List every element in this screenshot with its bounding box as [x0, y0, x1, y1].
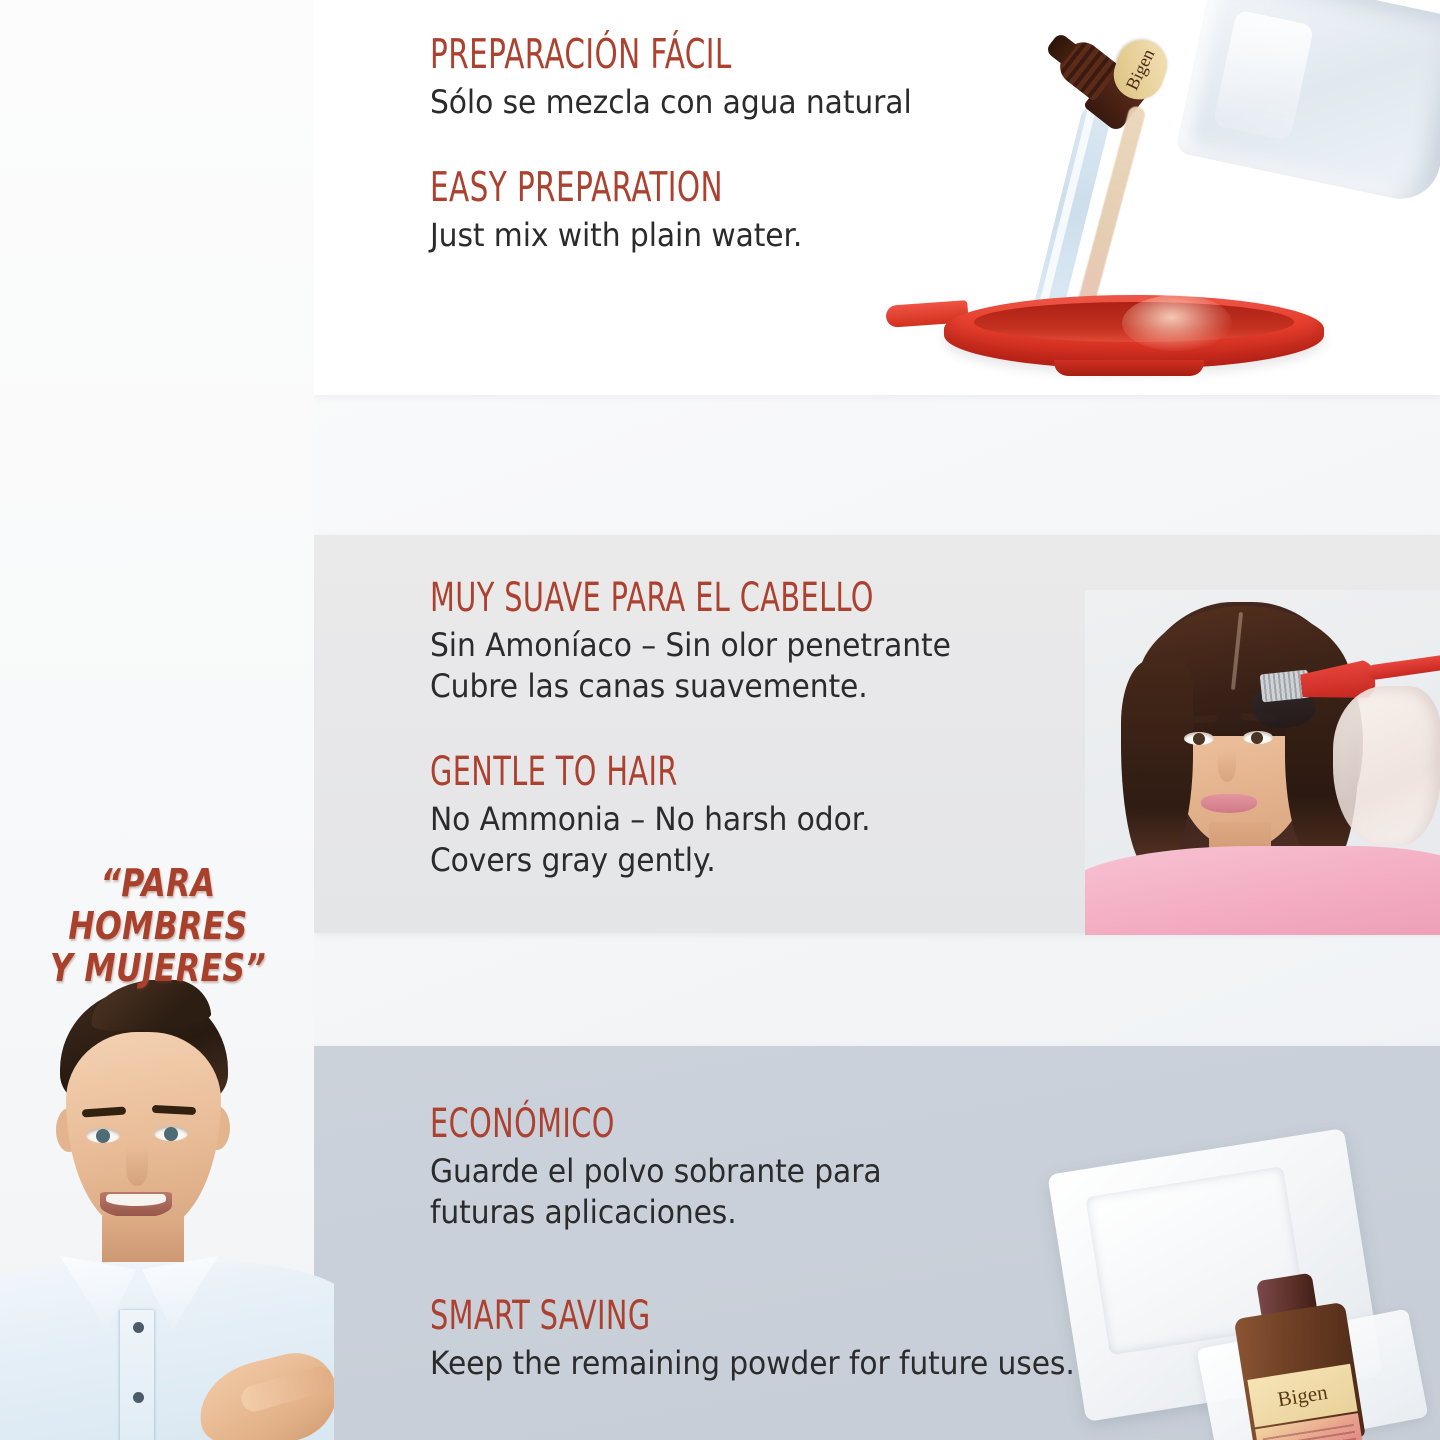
man-shirt-button — [133, 1322, 144, 1333]
bigen-bottle-shape: Bigen — [1015, 0, 1176, 152]
powder-dust-shape — [1122, 295, 1232, 351]
woman-lips-shape — [1201, 794, 1257, 813]
man-pupil-left — [96, 1129, 110, 1143]
panel-easy-preparation-text: PREPARACIÓN FÁCIL Sólo se mezcla con agu… — [430, 34, 948, 257]
bottle-brand-text: Bigen — [1122, 46, 1160, 94]
feature-gentle-to-hair: GENTLE TO HAIR No Ammonia – No harsh odo… — [430, 752, 990, 882]
quote-para-hombres-y-mujeres: “PARA HOMBRES Y MUJERES” — [20, 862, 296, 990]
panel-gentle-to-hair-text: MUY SUAVE PARA EL CABELLO Sin Amoníaco –… — [430, 578, 990, 882]
smiling-man-pointing-photo — [0, 980, 334, 1440]
gloved-hand-shape — [1333, 686, 1440, 846]
feature-heading-es: ECONÓMICO — [430, 1104, 985, 1145]
feature-heading-es: PREPARACIÓN FÁCIL — [430, 34, 844, 76]
woman-pupil-right — [1251, 732, 1263, 744]
bowl-foot-shape — [1054, 360, 1204, 376]
mixing-bowl-illustration: Bigen — [934, 0, 1440, 395]
feature-easy-preparation: EASY PREPARATION Just mix with plain wat… — [430, 167, 948, 256]
woman-pink-cape-shape — [1085, 846, 1440, 935]
pack-bottle-body-shape: Bigen — [1234, 1302, 1366, 1440]
panel-easy-preparation: Bigen PREPARACIÓN FÁCIL Sólo se mezcla c… — [314, 0, 1440, 395]
infographic-canvas: Bigen PREPARACIÓN FÁCIL Sólo se mezcla c… — [0, 0, 1440, 1440]
woman-nose-shape — [1218, 750, 1236, 782]
man-pupil-right — [164, 1127, 178, 1141]
feature-heading-es: MUY SUAVE PARA EL CABELLO — [430, 578, 878, 619]
feature-economico: ECONÓMICO Guarde el polvo sobrante para … — [430, 1104, 1123, 1234]
feature-body-en: Keep the remaining powder for future use… — [430, 1343, 1075, 1385]
feature-heading-en: GENTLE TO HAIR — [430, 752, 878, 793]
man-smile-shape — [100, 1192, 172, 1218]
pack-bottle-brand-text: Bigen — [1276, 1379, 1329, 1412]
water-container-shape — [1175, 0, 1440, 206]
feature-body-en: No Ammonia – No harsh odor. Covers gray … — [430, 799, 951, 882]
panel-smart-saving-text: ECONÓMICO Guarde el polvo sobrante para … — [430, 1104, 1123, 1384]
feature-heading-en: SMART SAVING — [430, 1296, 985, 1337]
feature-body-es: Sin Amoníaco – Sin olor penetrante Cubre… — [430, 625, 951, 708]
woman-applying-dye-photo — [1085, 590, 1440, 935]
feature-heading-en: EASY PREPARATION — [430, 167, 844, 209]
feature-body-es: Guarde el polvo sobrante para futuras ap… — [430, 1151, 1075, 1234]
brush-handle-shape — [1366, 650, 1440, 680]
man-shirt-button — [133, 1392, 144, 1403]
man-teeth-shape — [106, 1194, 166, 1206]
feature-body-en: Just mix with plain water. — [430, 215, 912, 257]
sachet-with-bottle-photo: Bigen — [1055, 1150, 1440, 1440]
feature-body-es: Sólo se mezcla con agua natural — [430, 82, 912, 124]
feature-smart-saving: SMART SAVING Keep the remaining powder f… — [430, 1296, 1123, 1384]
man-nose-shape — [126, 1146, 148, 1186]
woman-pupil-left — [1193, 733, 1205, 745]
feature-muy-suave-cabello: MUY SUAVE PARA EL CABELLO Sin Amoníaco –… — [430, 578, 990, 708]
feature-preparacion-facil: PREPARACIÓN FÁCIL Sólo se mezcla con agu… — [430, 34, 948, 123]
